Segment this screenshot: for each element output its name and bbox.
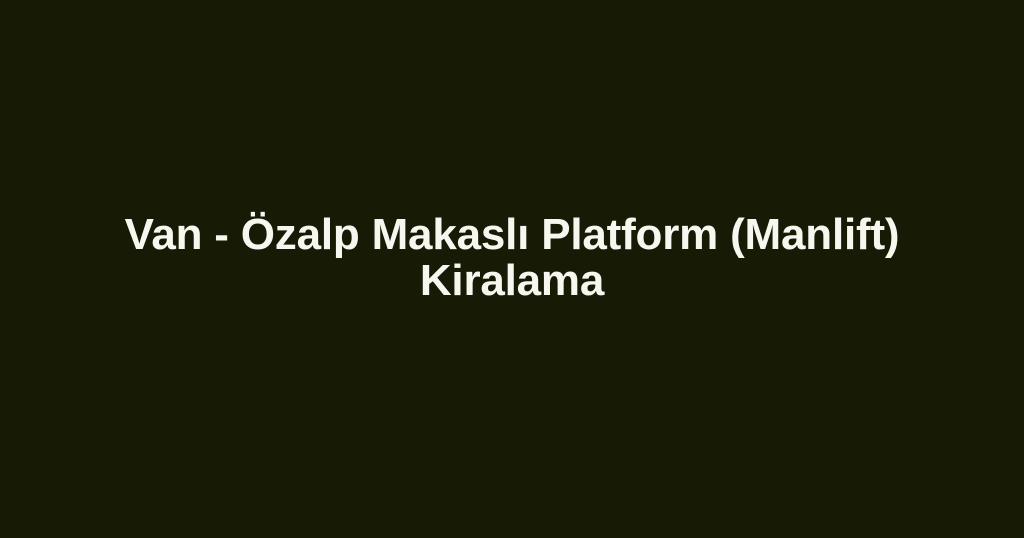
headline-block: Van - Özalp Makaslı Platform (Manlift) K… xyxy=(72,212,952,304)
page-title: Van - Özalp Makaslı Platform (Manlift) K… xyxy=(88,212,936,304)
banner-canvas: Van - Özalp Makaslı Platform (Manlift) K… xyxy=(0,0,1024,538)
